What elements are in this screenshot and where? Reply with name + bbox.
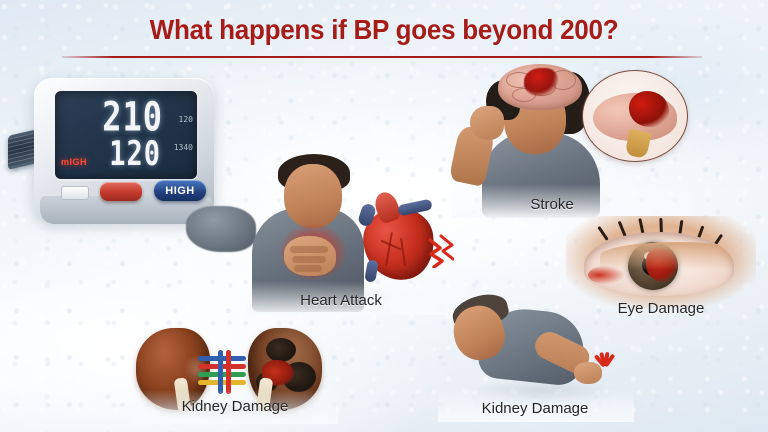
inset-hemorrhage-icon — [629, 91, 669, 127]
heart-person-head — [284, 164, 342, 228]
finger — [294, 265, 322, 272]
anatomical-heart-illustration — [358, 188, 442, 284]
monitor-lcd-screen: 210 120 120 1340 mIGH — [55, 91, 197, 179]
condition-scene-heart-attack: Heart Attack — [246, 150, 466, 315]
necrotic-tissue — [266, 338, 296, 362]
label-kidney-damage-organs: Kidney Damage — [122, 398, 348, 415]
start-stop-button[interactable] — [100, 182, 142, 201]
memory-button[interactable] — [61, 186, 89, 200]
high-button[interactable]: HIGH — [154, 180, 206, 201]
infographic-poster: What happens if BP goes beyond 200? 210 … — [0, 0, 768, 432]
renal-vessels-group — [198, 350, 258, 394]
vessel-vertical-blue — [218, 350, 223, 394]
mini-reading-bottom: 1340 — [174, 143, 193, 152]
high-indicator-icon: mIGH — [61, 157, 87, 167]
inset-brain-stem — [625, 129, 652, 159]
back-pain-burst-icon — [588, 350, 622, 384]
finger — [290, 246, 328, 253]
pain-lightning-bolt-icon — [428, 234, 454, 268]
label-heart-attack: Heart Attack — [246, 292, 436, 309]
vena-cava — [364, 259, 379, 283]
diastolic-reading: 120 — [109, 135, 161, 174]
title-container: What happens if BP goes beyond 200? — [0, 16, 768, 44]
label-kidney-damage-person: Kidney Damage — [432, 400, 638, 417]
label-stroke: Stroke — [452, 196, 652, 213]
page-title: What happens if BP goes beyond 200? — [27, 16, 741, 44]
brain-inset-diagram — [582, 70, 688, 162]
finger — [292, 256, 326, 263]
systolic-reading: 210 — [102, 93, 163, 141]
blood-pressure-monitor: 210 120 120 1340 mIGH HIGH — [34, 78, 224, 228]
stroke-person-hand — [470, 106, 504, 140]
heart-person-hand — [284, 236, 336, 276]
condition-scene-kidney-person: Kidney Damage — [438, 282, 634, 422]
condition-scene-kidney-organs: Kidney Damage — [132, 326, 338, 424]
mini-reading-top: 120 — [179, 115, 193, 124]
condition-scene-stroke: Stroke — [452, 58, 692, 218]
upper-eyelid — [600, 242, 734, 270]
vessel-vertical-red — [226, 350, 231, 394]
